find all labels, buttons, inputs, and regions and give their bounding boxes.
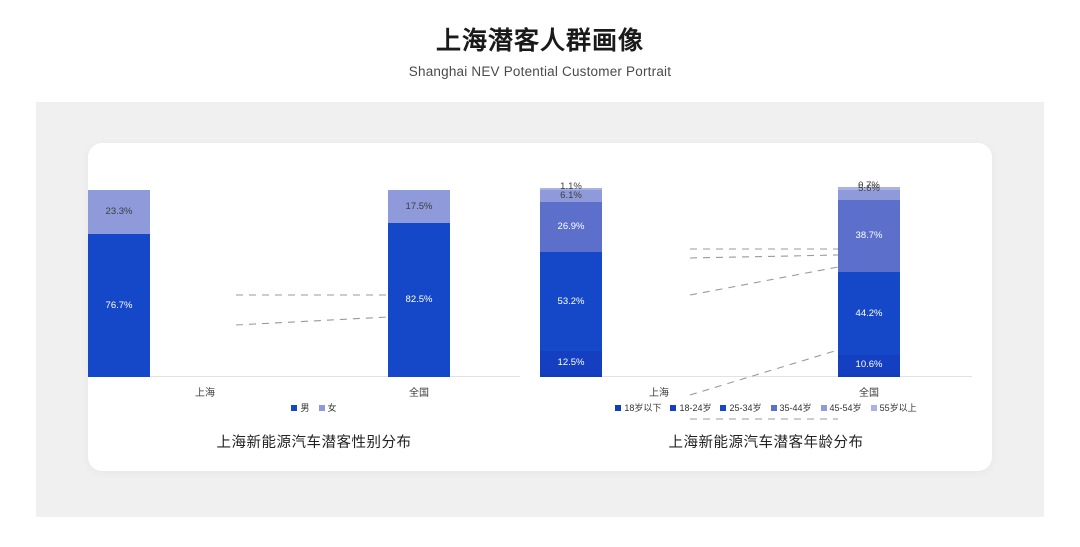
age-national-segment-label: 10.6% <box>856 360 883 370</box>
gender-cat-left: 上海 <box>165 384 245 399</box>
age-national-segment-label: 38.7% <box>856 231 883 241</box>
age-legend-item[interactable]: 55岁以上 <box>871 401 917 414</box>
age-legend-item[interactable]: 45-54岁 <box>821 401 862 414</box>
legend-swatch-icon <box>319 405 325 411</box>
legend-swatch-icon <box>771 405 777 411</box>
age-shanghai-segment[interactable]: 26.9% <box>540 202 602 252</box>
age-legend-item-label: 55岁以上 <box>880 401 917 414</box>
age-connector-lines <box>540 233 992 423</box>
gender-shanghai-segment-label: 23.3% <box>106 207 133 217</box>
gender-connector-lines <box>88 233 540 423</box>
slide-header: 上海潜客人群画像 Shanghai NEV Potential Customer… <box>0 0 1080 79</box>
legend-swatch-icon <box>821 405 827 411</box>
legend-swatch-icon <box>291 405 297 411</box>
gender-national-segment-label: 82.5% <box>406 295 433 305</box>
age-bar-national[interactable]: 0.7%5.6%38.7%44.2%10.6%0.2% <box>838 187 900 377</box>
age-cat-left: 上海 <box>619 384 699 399</box>
age-legend-item[interactable]: 18岁以下 <box>615 401 661 414</box>
gender-national-segment[interactable]: 17.5% <box>388 190 450 223</box>
age-shanghai-segment-label: 12.5% <box>558 358 585 368</box>
age-national-segment-label: 44.2% <box>856 309 883 319</box>
gender-shanghai-segment-label: 76.7% <box>106 301 133 311</box>
gender-national-segment-label: 17.5% <box>406 202 433 212</box>
gender-legend-item-label: 男 <box>300 401 309 414</box>
age-shanghai-segment-label: 26.9% <box>558 222 585 232</box>
gender-shanghai-segment[interactable]: 76.7% <box>88 234 150 377</box>
legend-swatch-icon <box>615 405 621 411</box>
age-plot-area: 1.1%6.1%26.9%53.2%12.5%0.2% 上海 0.7%5.6%3… <box>540 188 992 378</box>
age-shanghai-segment-label: 0.2% <box>560 383 582 393</box>
gender-axis-line <box>110 376 520 377</box>
age-shanghai-segment[interactable]: 6.1% <box>540 190 602 201</box>
age-legend: 18岁以下18-24岁25-34岁35-44岁45-54岁55岁以上 <box>540 401 992 414</box>
gender-cat-right: 全国 <box>379 384 459 399</box>
gender-bar-shanghai[interactable]: 23.3%76.7% <box>88 190 150 377</box>
gender-legend: 男女 <box>88 401 540 414</box>
legend-swatch-icon <box>670 405 676 411</box>
age-shanghai-segment[interactable]: 12.5% <box>540 351 602 374</box>
age-legend-item[interactable]: 35-44岁 <box>771 401 812 414</box>
age-axis-line <box>562 376 972 377</box>
age-national-segment[interactable]: 0.2% <box>838 375 900 377</box>
charts-container: 23.3%76.7% 上海 17.5%82.5% 全国 男女 上海新能源汽车潜客… <box>88 143 992 471</box>
age-shanghai-segment[interactable]: 53.2% <box>540 252 602 351</box>
age-cat-right: 全国 <box>829 384 909 399</box>
page-subtitle: Shanghai NEV Potential Customer Portrait <box>0 64 1080 79</box>
page-title: 上海潜客人群画像 <box>0 26 1080 56</box>
age-national-segment[interactable]: 44.2% <box>838 272 900 355</box>
gender-chart: 23.3%76.7% 上海 17.5%82.5% 全国 男女 上海新能源汽车潜客… <box>88 143 540 471</box>
age-bar-shanghai[interactable]: 1.1%6.1%26.9%53.2%12.5%0.2% <box>540 188 602 377</box>
legend-swatch-icon <box>720 405 726 411</box>
age-chart: 1.1%6.1%26.9%53.2%12.5%0.2% 上海 0.7%5.6%3… <box>540 143 992 471</box>
age-legend-item-label: 18-24岁 <box>679 401 711 414</box>
gender-legend-item[interactable]: 男 <box>291 401 309 414</box>
age-national-segment[interactable]: 38.7% <box>838 200 900 272</box>
gender-legend-item-label: 女 <box>328 401 337 414</box>
age-legend-item[interactable]: 25-34岁 <box>720 401 761 414</box>
gender-plot-area: 23.3%76.7% 上海 17.5%82.5% 全国 <box>88 188 540 378</box>
age-legend-item-label: 35-44岁 <box>780 401 812 414</box>
age-shanghai-segment[interactable]: 0.2% <box>540 375 602 377</box>
age-legend-item[interactable]: 18-24岁 <box>670 401 711 414</box>
gender-chart-caption: 上海新能源汽车潜客性别分布 <box>88 431 540 452</box>
age-legend-item-label: 18岁以下 <box>624 401 661 414</box>
age-national-segment-label: 5.6% <box>858 184 880 194</box>
age-shanghai-segment-label: 53.2% <box>558 297 585 307</box>
gender-bar-national[interactable]: 17.5%82.5% <box>388 190 450 377</box>
gender-national-segment[interactable]: 82.5% <box>388 223 450 377</box>
slide-root: 上海潜客人群画像 Shanghai NEV Potential Customer… <box>0 0 1080 547</box>
age-chart-caption: 上海新能源汽车潜客年龄分布 <box>540 431 992 452</box>
gender-legend-item[interactable]: 女 <box>319 401 337 414</box>
gender-shanghai-segment[interactable]: 23.3% <box>88 190 150 234</box>
age-national-segment[interactable]: 10.6% <box>838 355 900 375</box>
age-shanghai-segment-label: 6.1% <box>560 191 582 201</box>
age-legend-item-label: 45-54岁 <box>830 401 862 414</box>
legend-swatch-icon <box>871 405 877 411</box>
age-legend-item-label: 25-34岁 <box>729 401 761 414</box>
age-national-segment[interactable]: 5.6% <box>838 190 900 200</box>
